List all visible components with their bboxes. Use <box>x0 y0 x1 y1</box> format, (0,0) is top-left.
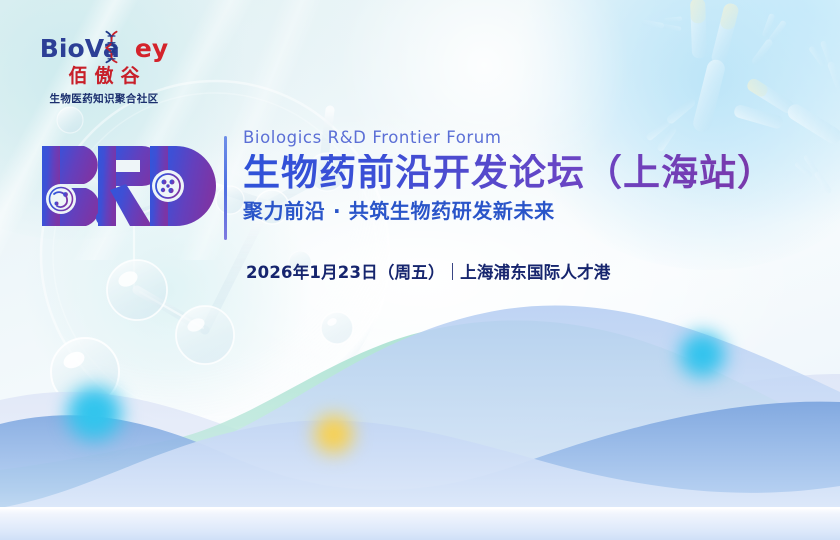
brd-r-counter <box>116 160 140 172</box>
title-slogan: 聚力前沿 · 共筑生物药研发新未来 <box>243 200 775 222</box>
title-chinese: 生物药前沿开发论坛（上海站） <box>243 154 775 192</box>
title-english: Biologics R&D Frontier Forum <box>243 130 775 147</box>
biovalley-logo[interactable]: BioVaey 佰傲谷 生物医药知识聚合社区 <box>24 36 184 106</box>
brd-letter-b <box>42 146 100 226</box>
footer-divider-line <box>0 507 840 509</box>
event-banner: BioVaey 佰傲谷 生物医药知识聚合社区 <box>0 0 840 540</box>
title-divider <box>224 136 227 240</box>
dna-helix-icon <box>103 30 120 64</box>
title-text-group: Biologics R&D Frontier Forum 生物药前沿开发论坛（上… <box>243 128 775 222</box>
event-venue: 上海浦东国际人才港 <box>460 259 610 283</box>
brand-wordmark: BioVaey <box>40 36 169 61</box>
event-meta-separator <box>452 263 454 280</box>
brand-name-cn: 佰傲谷 <box>24 66 184 88</box>
brd-monogram <box>40 144 216 228</box>
event-date: 2026年1月23日（周五） <box>246 259 445 283</box>
footer-band <box>0 508 840 540</box>
brand-wordmark-part2: ey <box>135 34 168 63</box>
brand-tagline-cn: 生物医药知识聚合社区 <box>24 91 184 106</box>
title-block: Biologics R&D Frontier Forum 生物药前沿开发论坛（上… <box>40 128 775 240</box>
event-meta: 2026年1月23日（周五） 上海浦东国际人才港 <box>246 259 610 283</box>
